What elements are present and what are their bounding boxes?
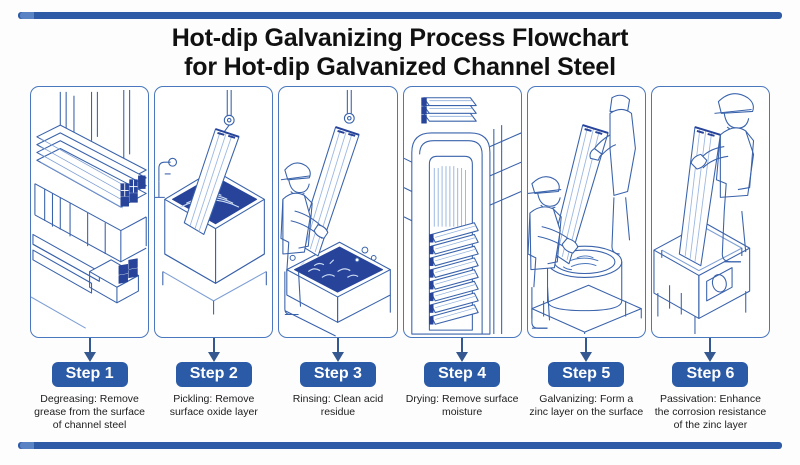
connector-1	[30, 338, 149, 362]
step-badge: Step 6	[672, 362, 748, 387]
step-badge: Step 3	[300, 362, 376, 387]
title-line-1: Hot-dip Galvanizing Process Flowchart	[0, 24, 800, 53]
rinsing-tank-worker-icon	[279, 87, 396, 337]
step-item-3: Step 3 Rinsing: Clean acid residue	[278, 362, 397, 452]
step-item-2: Step 2 Pickling: Remove surface oxide la…	[154, 362, 273, 452]
steps-row: Step 1 Degreasing: Remove grease from th…	[30, 362, 770, 452]
step-connectors	[30, 338, 770, 362]
step-caption: Drying: Remove surface moisture	[403, 393, 522, 419]
drying-oven-icon	[404, 87, 521, 337]
pickling-tank-dip-icon	[155, 87, 272, 337]
step-item-5: Step 5 Galvanizing: Form a zinc layer on…	[527, 362, 646, 452]
panel-step-5	[527, 86, 646, 338]
step-item-4: Step 4 Drying: Remove surface moisture	[403, 362, 522, 452]
panel-step-1	[30, 86, 149, 338]
arrow-down-icon	[704, 352, 716, 362]
panel-step-3	[278, 86, 397, 338]
arrow-down-icon	[208, 352, 220, 362]
degreasing-rack-of-channel-steel-icon	[31, 87, 148, 337]
connector-5	[527, 338, 646, 362]
arrow-down-icon	[456, 352, 468, 362]
connector-4	[403, 338, 522, 362]
connector-3	[278, 338, 397, 362]
arrow-down-icon	[84, 352, 96, 362]
zinc-kettle-worker-icon	[528, 87, 645, 337]
step-badge: Step 5	[548, 362, 624, 387]
step-item-6: Step 6 Passivation: Enhance the corrosio…	[651, 362, 770, 452]
bottom-accent-bar	[18, 442, 782, 449]
step-caption: Rinsing: Clean acid residue	[278, 393, 397, 419]
title-line-2: for Hot-dip Galvanized Channel Steel	[0, 53, 800, 82]
step-caption: Passivation: Enhance the corrosion resis…	[651, 393, 770, 432]
step-badge: Step 1	[52, 362, 128, 387]
step-badge: Step 2	[176, 362, 252, 387]
page-title: Hot-dip Galvanizing Process Flowchart fo…	[0, 24, 800, 82]
arrow-down-icon	[580, 352, 592, 362]
top-accent-bar	[18, 12, 782, 19]
panel-step-2	[154, 86, 273, 338]
step-caption: Degreasing: Remove grease from the surfa…	[30, 393, 149, 432]
step-badge: Step 4	[424, 362, 500, 387]
step-caption: Pickling: Remove surface oxide layer	[154, 393, 273, 419]
connector-6	[651, 338, 770, 362]
step-item-1: Step 1 Degreasing: Remove grease from th…	[30, 362, 149, 452]
infographic-poster: Hot-dip Galvanizing Process Flowchart fo…	[0, 0, 800, 465]
illustration-panels	[30, 86, 770, 338]
panel-step-6	[651, 86, 770, 338]
connector-2	[154, 338, 273, 362]
arrow-down-icon	[332, 352, 344, 362]
passivation-tank-worker-icon	[652, 87, 769, 337]
step-caption: Galvanizing: Form a zinc layer on the su…	[527, 393, 646, 419]
panel-step-4	[403, 86, 522, 338]
